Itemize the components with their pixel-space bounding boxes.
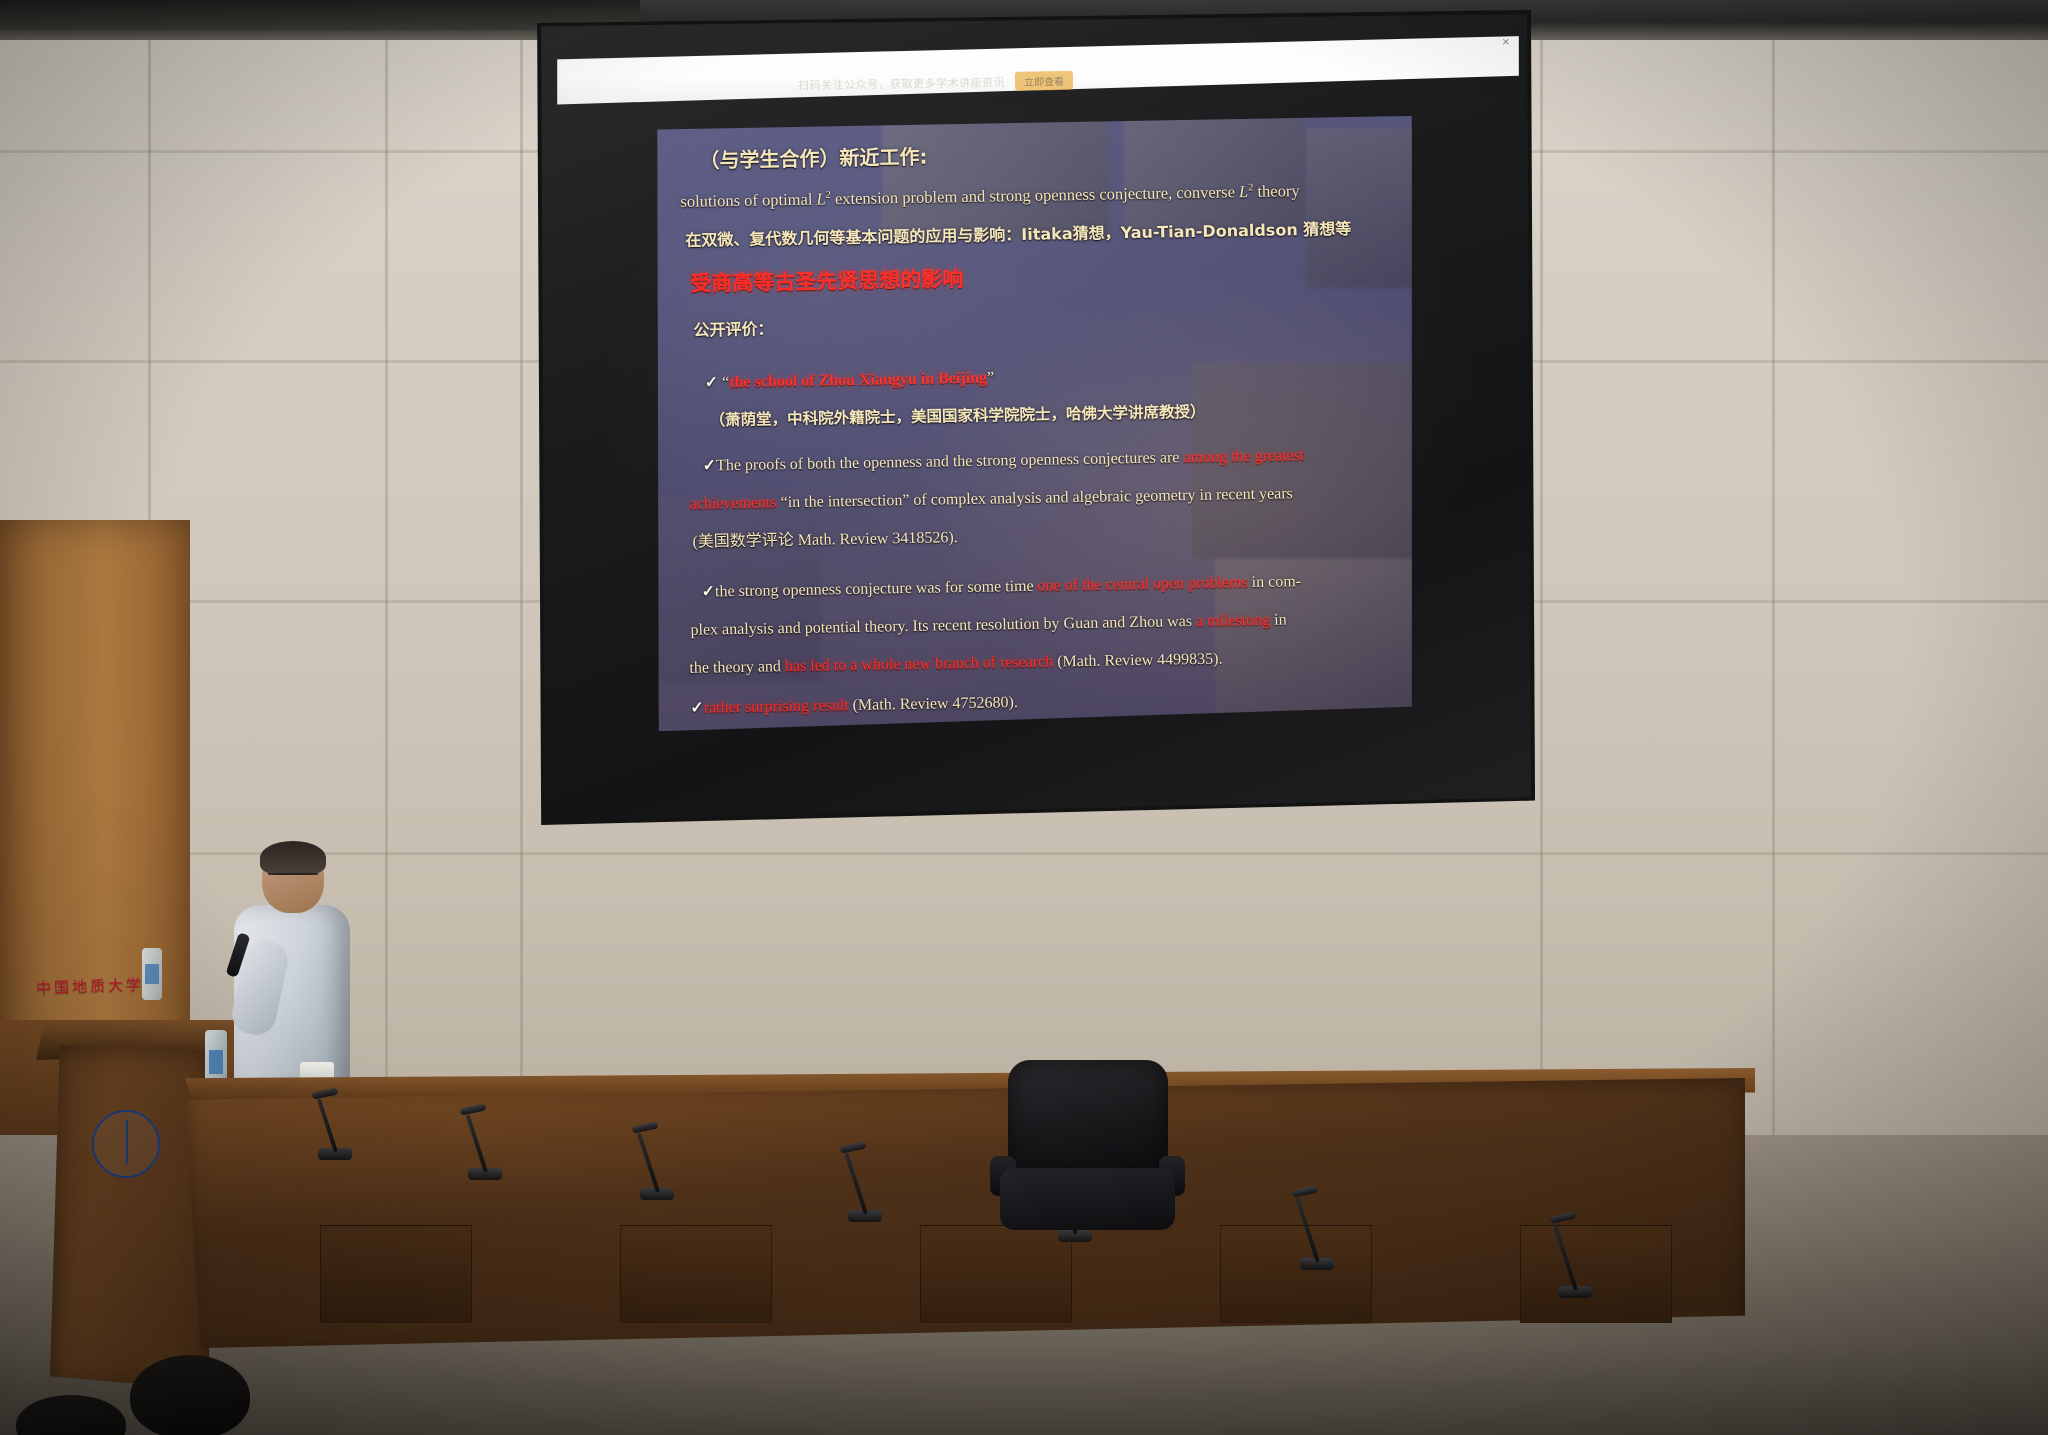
projection-screen[interactable]: 扫码关注公众号，获取更多学术讲座资讯 立即查看 × （与学生合作）新近工作: s… — [525, 10, 1535, 825]
chair-seat — [1000, 1168, 1175, 1230]
close-icon[interactable]: × — [1502, 34, 1510, 49]
slide-bullet-2-cont: achievements “in the intersection” of co… — [689, 486, 1293, 513]
slide-bullet-2: ✓The proofs of both the openness and the… — [702, 448, 1304, 475]
check-icon: ✓ — [704, 374, 722, 391]
overlay-cta-button[interactable]: 立即查看 — [1015, 71, 1073, 91]
water-bottle — [142, 948, 162, 1000]
line1-seg-6: theory — [1253, 181, 1300, 201]
b3d-highlight: has led to a whole new branch of researc… — [785, 653, 1054, 675]
slide-line-1: solutions of optimal L2 extension proble… — [680, 182, 1300, 210]
lecture-hall-photo: 扫码关注公众号，获取更多学术讲座资讯 立即查看 × （与学生合作）新近工作: s… — [0, 0, 2048, 1435]
glasses-icon — [268, 873, 318, 887]
b3c-highlight: a milestong — [1196, 611, 1271, 629]
slide-citation-1: (美国数学评论 Math. Review 3418526). — [692, 530, 958, 551]
podium — [50, 1045, 215, 1390]
slide-line-3-red-heading: 受商高等古圣先贤思想的影响 — [690, 268, 963, 295]
b3c-tail: in — [1270, 611, 1287, 628]
overlay-promo-text: 扫码关注公众号，获取更多学术讲座资讯 — [798, 74, 1005, 93]
slide-bullet-3-cont: plex analysis and potential theory. Its … — [690, 612, 1286, 639]
presentation-slide: （与学生合作）新近工作: solutions of optimal L2 ext… — [654, 116, 1412, 731]
b2-text: The proofs of both the openness and the … — [716, 449, 1184, 474]
b2c-highlight: achievements — [689, 494, 776, 513]
table-panel — [1520, 1225, 1672, 1323]
b1-quote: the school of Zhou Xiangyu in Beijing — [729, 369, 987, 390]
table-panel — [620, 1225, 772, 1323]
slide-line-4-subheading: 公开评价： — [693, 321, 773, 339]
slide-line-2: 在双微、复代数几何等基本问题的应用与影响：Iitaka猜想，Yau-Tian-D… — [685, 221, 1351, 249]
table-panel — [320, 1225, 472, 1323]
b2-highlight: among the greatest — [1183, 447, 1304, 466]
b3-highlight: one of the central open problems — [1037, 574, 1248, 595]
b2c-text: “in the intersection” of complex analysi… — [776, 485, 1293, 511]
check-icon: ✓ — [690, 699, 704, 716]
university-logo — [92, 1110, 160, 1178]
b1-q-close: ” — [987, 369, 995, 386]
b3-text: the strong openness conjecture was for s… — [715, 577, 1038, 600]
line1-seg-4: L — [1239, 182, 1249, 201]
b4-highlight: rather surprising result — [704, 697, 849, 717]
slide-title: （与学生合作）新近工作: — [699, 146, 927, 171]
slide-attribution: （萧荫堂，中科院外籍院士，美国国家科学院院士，哈佛大学讲席教授） — [709, 403, 1205, 428]
b3d-text: the theory and — [689, 658, 785, 677]
check-icon: ✓ — [702, 457, 716, 474]
slide-bullet-4: ✓rather surprising result (Math. Review … — [690, 695, 1018, 718]
chair-back — [1008, 1060, 1168, 1180]
check-icon: ✓ — [701, 583, 715, 600]
line1-seg-0: solutions of optimal — [680, 189, 817, 210]
presider-chair[interactable] — [1000, 1060, 1175, 1245]
b3c-text: plex analysis and potential theory. Its … — [690, 613, 1196, 639]
b3-tail: in com- — [1247, 573, 1301, 591]
line1-seg-3: extension problem and strong openness co… — [831, 182, 1240, 208]
slide-bullet-3: ✓the strong openness conjecture was for … — [701, 574, 1301, 601]
b3d-tail: (Math. Review 4499835). — [1053, 650, 1223, 670]
table-panel — [1220, 1225, 1372, 1323]
slide-citation-2: the theory and has led to a whole new br… — [689, 651, 1222, 677]
slide-text-body: （与学生合作）新近工作: solutions of optimal L2 ext… — [677, 128, 1410, 719]
speaker-hair — [260, 841, 326, 875]
audience-head — [130, 1355, 250, 1435]
slide-bullet-1: ✓ “the school of Zhou Xiangyu in Beijing… — [705, 370, 995, 392]
b4-tail: (Math. Review 4752680). — [848, 694, 1018, 714]
